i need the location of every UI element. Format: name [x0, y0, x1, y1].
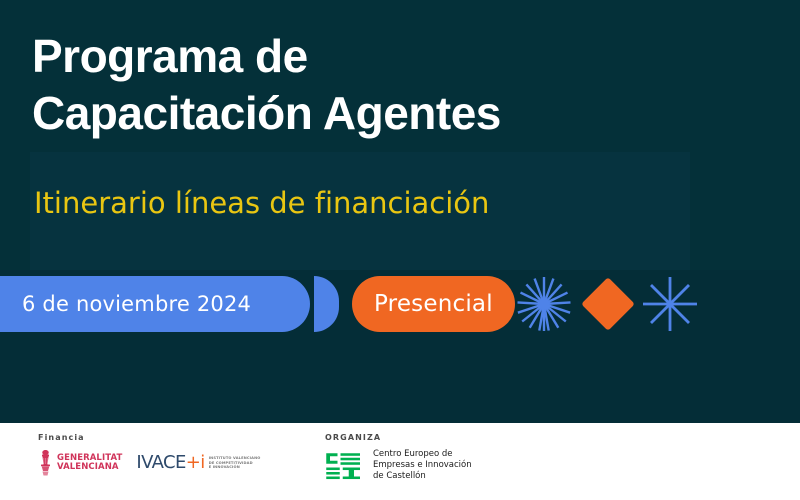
footer-financia-block: Financia — [38, 423, 260, 500]
ivace-plus-text: +i — [186, 452, 205, 473]
date-badge-label: 6 de noviembre 2024 — [22, 292, 251, 316]
ceei-mark-icon — [325, 451, 365, 481]
poster-canvas: Programa de Capacitación Agentes Itinera… — [0, 0, 800, 500]
diamond-icon — [578, 274, 638, 334]
generalitat-valenciana-logo: GENERALITAT VALENCIANA — [38, 449, 122, 477]
organiza-logo-strip: Centro Europeo de Empresas e Innovación … — [325, 449, 472, 482]
mode-badge-label: Presencial — [374, 291, 493, 317]
asterisk-icon — [640, 274, 700, 334]
ivace-logo: IVACE+i INSTITUTO VALENCIANO DE COMPETIT… — [136, 454, 260, 472]
page-subtitle: Itinerario líneas de financiación — [34, 185, 489, 221]
footer-organiza-block: ORGANIZA — [325, 423, 472, 500]
mode-badge: Presencial — [352, 276, 515, 332]
half-disc-accent — [314, 276, 339, 332]
date-badge: 6 de noviembre 2024 — [0, 276, 310, 332]
page-title: Programa de Capacitación Agentes — [32, 28, 752, 142]
ivace-word-text: IVACE — [136, 452, 185, 473]
footer-bar: Financia — [0, 423, 800, 500]
organiza-kicker: ORGANIZA — [325, 433, 472, 442]
ivace-wordmark: IVACE+i — [136, 454, 204, 472]
ivace-subtitle: INSTITUTO VALENCIANO DE COMPETITIVIDAD E… — [209, 456, 261, 470]
gva-crest-icon — [38, 449, 53, 477]
financia-logo-strip: GENERALITAT VALENCIANA IVACE+i INSTITUTO… — [38, 449, 260, 477]
burst-icon — [514, 274, 574, 334]
financia-kicker: Financia — [38, 433, 260, 442]
ceei-castellon-logo: Centro Europeo de Empresas e Innovación … — [325, 449, 472, 482]
badge-row: 6 de noviembre 2024 Presencial — [0, 276, 800, 334]
generalitat-valenciana-label: GENERALITAT VALENCIANA — [57, 454, 122, 473]
ceei-castellon-label: Centro Europeo de Empresas e Innovación … — [373, 449, 472, 482]
